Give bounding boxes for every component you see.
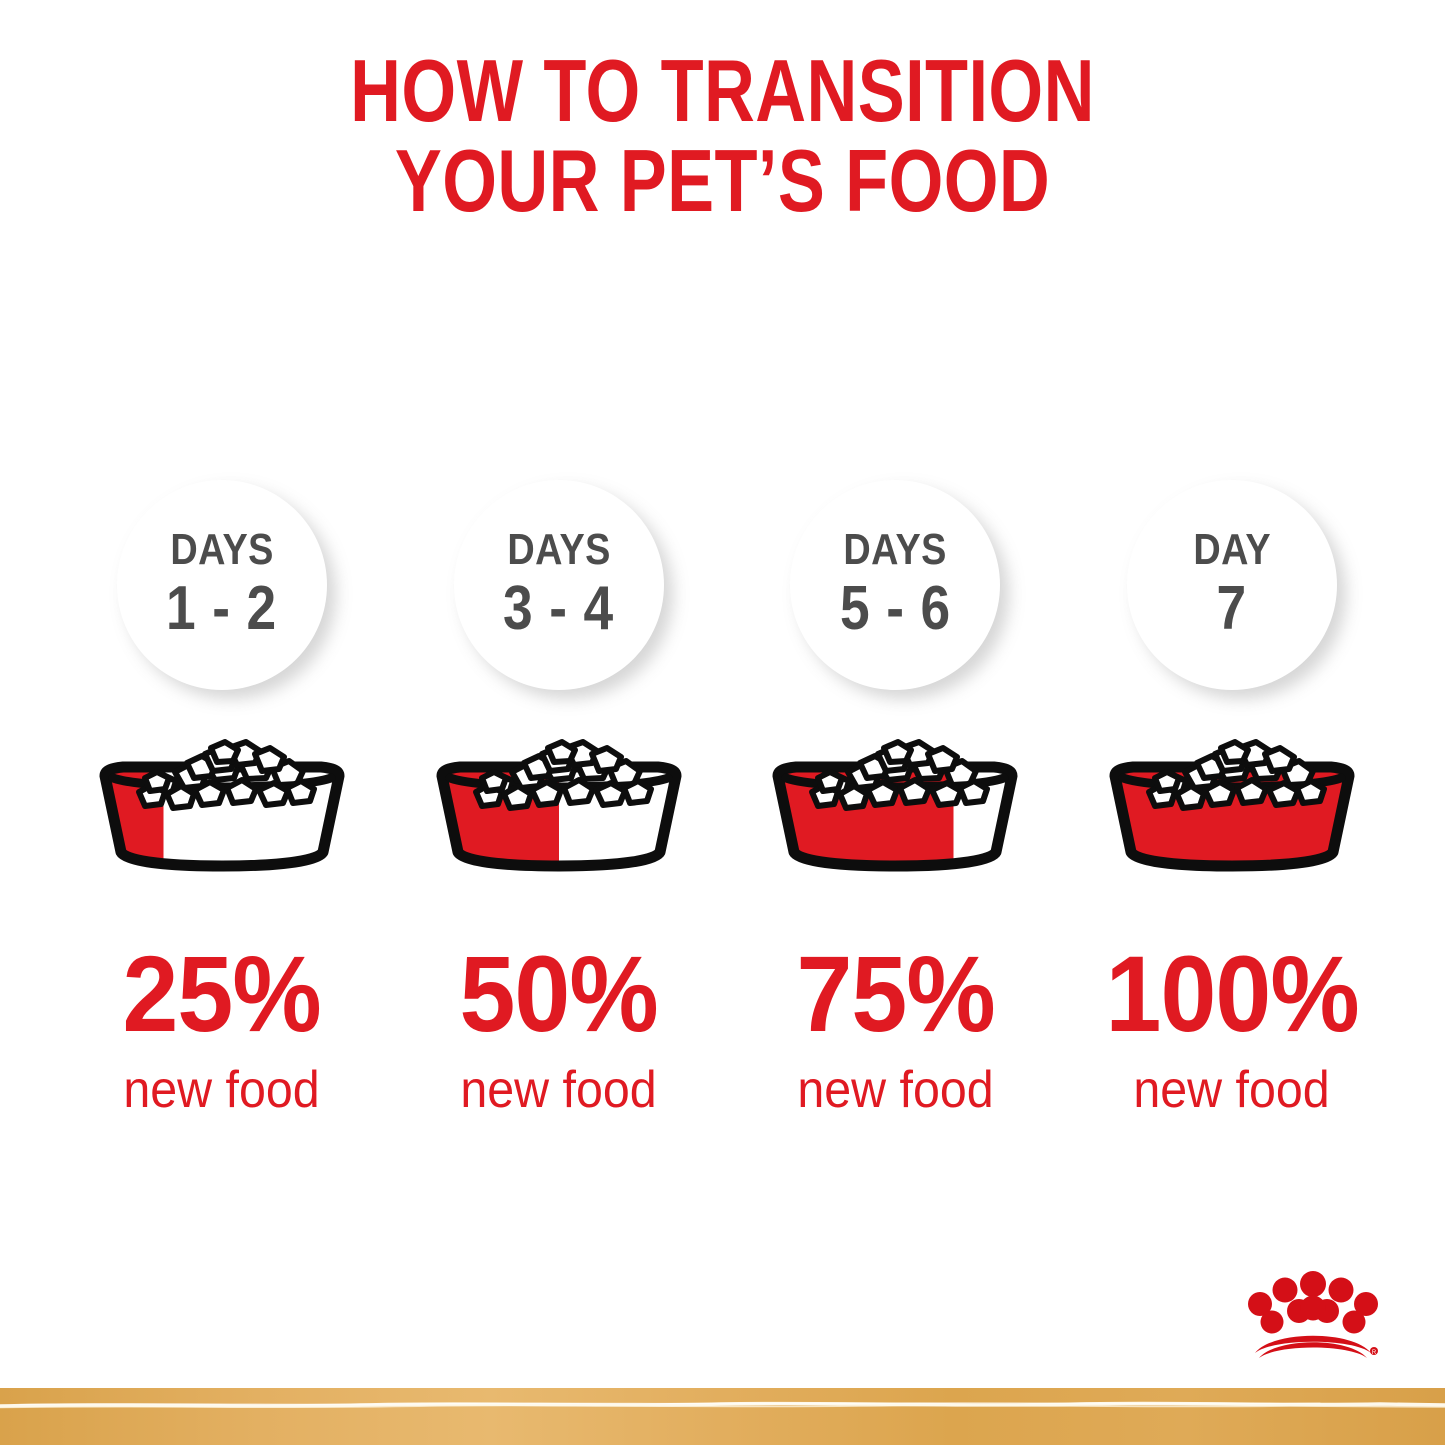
percent-caption: new food [797,1064,993,1116]
percent-caption: new food [461,1064,657,1116]
royal-canin-crown-logo: R [1243,1267,1383,1367]
day-badge-1: DAYS 1 - 2 [117,480,327,690]
dog-food-bowl-icon [760,730,1030,880]
percent-caption: new food [124,1064,320,1116]
infographic-canvas: HOW TO TRANSITION YOUR PET’S FOOD DAYS 1… [0,0,1445,1445]
day-badge-2: DAYS 3 - 4 [454,480,664,690]
day-word-label: DAYS [844,528,947,572]
dog-food-bowl-icon [1097,730,1367,880]
percent-value: 25% [123,940,321,1048]
transition-step-4: DAY 7 [1082,480,1382,1116]
day-badge-4: DAY 7 [1127,480,1337,690]
page-title-line-1: HOW TO TRANSITION [145,46,1301,136]
dog-food-bowl-icon [424,730,694,880]
trademark-symbol: R [1372,1350,1377,1356]
transition-step-1: DAYS 1 - 2 [72,480,372,1116]
day-badge-circle: DAYS 5 - 6 [790,480,1000,690]
brush-stroke-accent [0,1401,1445,1410]
day-number-label: 1 - 2 [167,576,278,641]
gold-footer-band [0,1388,1445,1445]
transition-step-3: DAYS 5 - 6 [745,480,1045,1116]
transition-steps: DAYS 1 - 2 [72,480,1382,1116]
percent-value: 50% [460,940,658,1048]
percent-caption: new food [1134,1064,1330,1116]
page-title-line-2: YOUR PET’S FOOD [145,136,1301,226]
day-number-label: 3 - 4 [503,576,614,641]
day-badge-circle: DAYS 1 - 2 [117,480,327,690]
day-badge-circle: DAY 7 [1127,480,1337,690]
dog-food-bowl-icon [87,730,357,880]
day-word-label: DAY [1193,528,1271,572]
percent-value: 100% [1105,940,1358,1048]
page-title: HOW TO TRANSITION YOUR PET’S FOOD [145,46,1301,226]
transition-step-2: DAYS 3 - 4 [409,480,709,1116]
day-word-label: DAYS [507,528,610,572]
percent-value: 75% [796,940,994,1048]
day-word-label: DAYS [170,528,273,572]
day-number-label: 5 - 6 [840,576,951,641]
day-badge-3: DAYS 5 - 6 [790,480,1000,690]
day-number-label: 7 [1217,576,1248,641]
day-badge-circle: DAYS 3 - 4 [454,480,664,690]
